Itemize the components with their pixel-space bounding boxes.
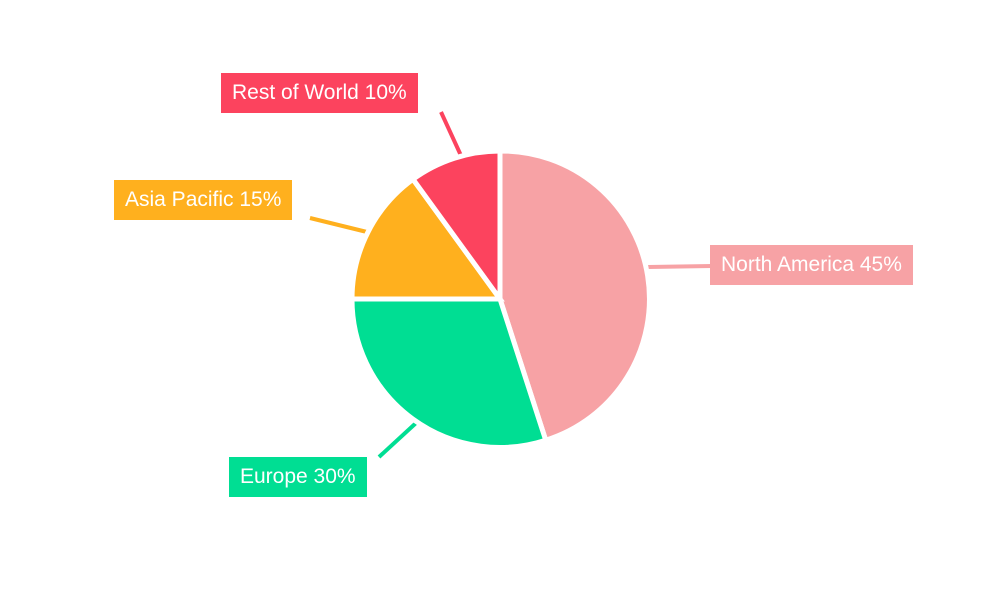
pie-chart-svg xyxy=(0,0,1000,600)
pie-label-asia-pacific[interactable]: Asia Pacific 15% xyxy=(114,180,292,220)
pie-label-rest-of-world[interactable]: Rest of World 10% xyxy=(221,73,418,113)
leader-line-north-america xyxy=(648,266,712,267)
leader-line-rest-of-world xyxy=(441,112,463,160)
pie-label-europe[interactable]: Europe 30% xyxy=(229,457,367,497)
pie-chart-figure: North America 45% Europe 30% Asia Pacifi… xyxy=(0,0,1000,600)
pie-label-north-america[interactable]: North America 45% xyxy=(710,245,913,285)
pie-slices xyxy=(352,151,649,447)
leader-line-europe xyxy=(379,423,416,457)
leader-line-asia-pacific xyxy=(310,218,367,232)
